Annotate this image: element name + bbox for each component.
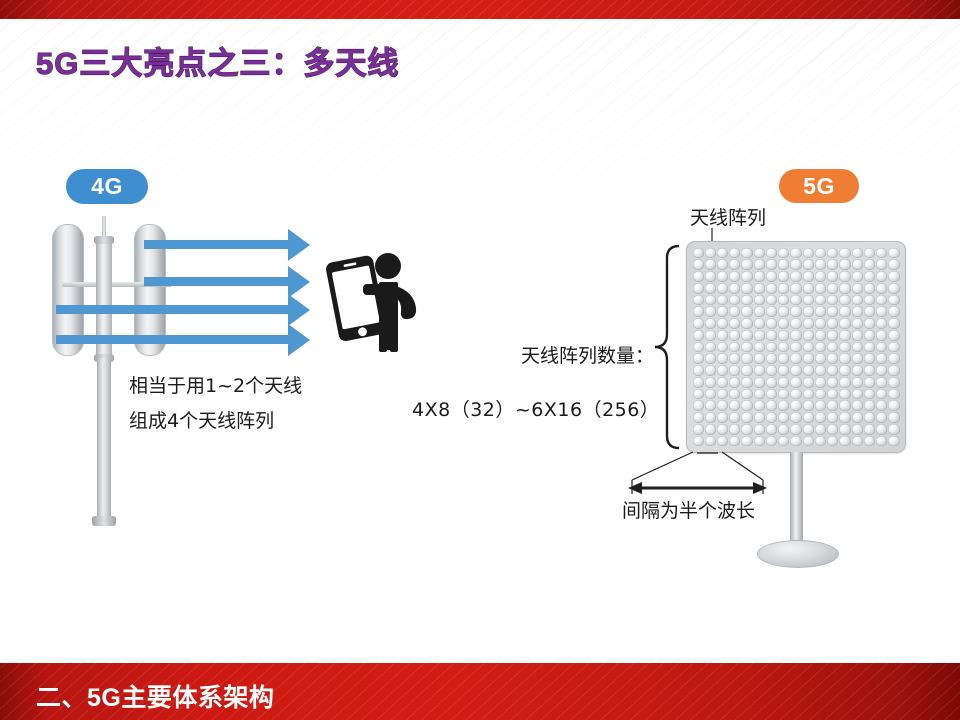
array-element (705, 330, 716, 341)
array-element (766, 295, 777, 306)
array-element (876, 412, 887, 423)
array-element (754, 365, 765, 376)
array-element (827, 295, 838, 306)
array-element (741, 248, 752, 259)
array-element (888, 318, 899, 329)
array-element (839, 424, 850, 435)
array-element (876, 248, 887, 259)
array-element (827, 412, 838, 423)
array-element (790, 412, 801, 423)
array-element (876, 283, 887, 294)
array-element (827, 365, 838, 376)
array-element (766, 283, 777, 294)
array-element (852, 295, 863, 306)
array-element (729, 271, 740, 282)
array-element (852, 365, 863, 376)
array-element (888, 295, 899, 306)
array-element (754, 424, 765, 435)
array-element (717, 365, 728, 376)
array-element (827, 259, 838, 270)
array-element (839, 353, 850, 364)
array-element (717, 283, 728, 294)
beam-arrow-3-shaft (56, 305, 292, 314)
array-element (693, 424, 704, 435)
array-element (790, 283, 801, 294)
array-element (741, 353, 752, 364)
array-element (705, 295, 716, 306)
array-element (729, 400, 740, 411)
array-element (839, 342, 850, 353)
label-array-formula: 4X8（32）~6X16（256） (412, 395, 659, 422)
array-element (778, 424, 789, 435)
array-element (729, 353, 740, 364)
array-element (705, 342, 716, 353)
array-element (778, 306, 789, 317)
array-element (839, 412, 850, 423)
array-element (778, 353, 789, 364)
array-element (790, 365, 801, 376)
array-element (864, 283, 875, 294)
array-element (705, 377, 716, 388)
array-element (790, 271, 801, 282)
array-element (888, 283, 899, 294)
array-element (839, 248, 850, 259)
array-element (815, 248, 826, 259)
array-element (839, 295, 850, 306)
label-spacing: 间隔为半个波长 (622, 496, 755, 523)
array-element (741, 259, 752, 270)
array-element (790, 353, 801, 364)
array-element (864, 295, 875, 306)
top-red-bar (0, 0, 960, 19)
array-element (803, 353, 814, 364)
spacing-callout-lines (610, 450, 830, 500)
array-element (754, 400, 765, 411)
array-element (839, 330, 850, 341)
array-element (693, 436, 704, 447)
array-element (705, 365, 716, 376)
tower-collar-upper (94, 236, 114, 244)
array-element (741, 283, 752, 294)
array-element (815, 271, 826, 282)
array-element (790, 306, 801, 317)
array-element (729, 295, 740, 306)
array-element (815, 365, 826, 376)
array-element (729, 259, 740, 270)
array-element (852, 400, 863, 411)
array-element (741, 400, 752, 411)
array-element (803, 306, 814, 317)
array-element (778, 271, 789, 282)
array-element (864, 353, 875, 364)
array-element (827, 342, 838, 353)
array-element (827, 377, 838, 388)
array-element (790, 436, 801, 447)
array-element (754, 389, 765, 400)
array-element (729, 306, 740, 317)
array-element (839, 400, 850, 411)
array-element (778, 295, 789, 306)
array-element (766, 424, 777, 435)
array-element (876, 330, 887, 341)
array-element (705, 318, 716, 329)
array-element (741, 412, 752, 423)
array-element (815, 389, 826, 400)
array-element (705, 306, 716, 317)
array-element (852, 436, 863, 447)
array-element (754, 353, 765, 364)
array-element (815, 283, 826, 294)
array-element (876, 424, 887, 435)
array-element (693, 342, 704, 353)
array-element (888, 306, 899, 317)
array-element (852, 330, 863, 341)
array-element (766, 318, 777, 329)
array-element (827, 248, 838, 259)
array-element (839, 283, 850, 294)
array-element (852, 248, 863, 259)
array-element (839, 259, 850, 270)
array-element (876, 353, 887, 364)
array-element (754, 412, 765, 423)
array-element (864, 330, 875, 341)
array-element (766, 342, 777, 353)
array-element (705, 400, 716, 411)
label-array-count: 天线阵列数量： (521, 341, 654, 368)
array-element (717, 353, 728, 364)
array-element (876, 436, 887, 447)
array-element (864, 400, 875, 411)
array-element (803, 365, 814, 376)
array-element (741, 389, 752, 400)
array-element (827, 271, 838, 282)
array-element (729, 377, 740, 388)
array-element (693, 283, 704, 294)
array-element (876, 306, 887, 317)
array-element (766, 353, 777, 364)
array-element (754, 330, 765, 341)
array-element (778, 318, 789, 329)
array-element (754, 318, 765, 329)
array-element (729, 318, 740, 329)
array-element (717, 330, 728, 341)
beam-arrow-1-shaft (144, 240, 292, 249)
array-element-grid (692, 247, 900, 447)
array-element (717, 259, 728, 270)
array-element (839, 389, 850, 400)
beam-arrow-2-shaft (144, 277, 292, 286)
array-element (778, 248, 789, 259)
array-element (815, 400, 826, 411)
array-element (741, 271, 752, 282)
array-element (790, 330, 801, 341)
array-element (852, 353, 863, 364)
array-element (717, 389, 728, 400)
array-element (803, 342, 814, 353)
array-element (876, 259, 887, 270)
array-element (888, 330, 899, 341)
array-element (754, 283, 765, 294)
array-element (705, 436, 716, 447)
array-element (852, 259, 863, 270)
5g-pole-base (757, 540, 839, 568)
array-element (754, 248, 765, 259)
array-element (815, 436, 826, 447)
array-element (888, 389, 899, 400)
array-element (827, 283, 838, 294)
caption-4g-line2: 组成4个天线阵列 (129, 406, 274, 433)
array-element (729, 424, 740, 435)
array-element (803, 389, 814, 400)
array-element (693, 389, 704, 400)
array-element (754, 436, 765, 447)
array-element (876, 389, 887, 400)
array-element (754, 271, 765, 282)
array-element (741, 365, 752, 376)
array-element (741, 330, 752, 341)
array-element (729, 412, 740, 423)
bottom-red-bar: 二、5G主要体系架构 (0, 663, 960, 720)
label-antenna-array: 天线阵列 (690, 203, 766, 230)
page-title: 5G三大亮点之三：多天线 (36, 38, 399, 83)
array-element (827, 353, 838, 364)
array-element (693, 259, 704, 270)
array-element (815, 295, 826, 306)
badge-5g: 5G (779, 169, 859, 203)
array-element (876, 342, 887, 353)
array-element (864, 318, 875, 329)
array-element (754, 306, 765, 317)
array-element (864, 259, 875, 270)
array-element (693, 330, 704, 341)
array-element (778, 365, 789, 376)
array-element (766, 412, 777, 423)
array-element (827, 306, 838, 317)
array-element (852, 342, 863, 353)
array-element (729, 283, 740, 294)
array-element (717, 306, 728, 317)
array-element (888, 377, 899, 388)
array-element (693, 377, 704, 388)
array-element (790, 400, 801, 411)
array-element (717, 342, 728, 353)
caption-4g-line1: 相当于用1~2个天线 (129, 371, 302, 398)
array-element (766, 436, 777, 447)
array-element (766, 389, 777, 400)
array-element (827, 389, 838, 400)
array-element (815, 306, 826, 317)
array-element (741, 436, 752, 447)
array-element (864, 412, 875, 423)
array-element (778, 342, 789, 353)
array-element (803, 283, 814, 294)
array-element (815, 412, 826, 423)
array-element (864, 436, 875, 447)
array-element (741, 377, 752, 388)
array-element (778, 377, 789, 388)
array-element (803, 400, 814, 411)
array-element (888, 436, 899, 447)
array-element (815, 424, 826, 435)
array-element (852, 271, 863, 282)
array-element (717, 248, 728, 259)
array-element (705, 353, 716, 364)
array-element (888, 365, 899, 376)
array-element (864, 424, 875, 435)
array-element (754, 259, 765, 270)
array-element (790, 248, 801, 259)
array-element (717, 436, 728, 447)
array-element (888, 412, 899, 423)
array-element (888, 342, 899, 353)
array-element (864, 271, 875, 282)
array-element (717, 400, 728, 411)
array-element (876, 318, 887, 329)
array-element (815, 342, 826, 353)
array-element (888, 400, 899, 411)
array-element (693, 306, 704, 317)
array-element (754, 342, 765, 353)
array-element (864, 377, 875, 388)
array-element (729, 365, 740, 376)
array-element (766, 365, 777, 376)
array-element (827, 400, 838, 411)
array-element (729, 248, 740, 259)
array-element (693, 412, 704, 423)
array-element (876, 295, 887, 306)
array-element (693, 400, 704, 411)
array-element (705, 424, 716, 435)
array-element (852, 424, 863, 435)
array-element (693, 353, 704, 364)
array-element (741, 295, 752, 306)
footer-section-title: 二、5G主要体系架构 (36, 678, 274, 714)
array-element (778, 436, 789, 447)
array-element (888, 248, 899, 259)
array-element (803, 318, 814, 329)
array-element (790, 377, 801, 388)
array-element (803, 259, 814, 270)
array-element (766, 306, 777, 317)
array-element (839, 318, 850, 329)
array-element (766, 259, 777, 270)
array-element (888, 271, 899, 282)
array-element (778, 283, 789, 294)
array-element (778, 389, 789, 400)
array-element (778, 259, 789, 270)
array-element (803, 271, 814, 282)
array-element (790, 389, 801, 400)
array-element (876, 377, 887, 388)
array-element (815, 377, 826, 388)
array-element (864, 306, 875, 317)
array-element (693, 318, 704, 329)
5g-antenna-array-panel (686, 241, 906, 453)
beam-arrow-4-shaft (56, 335, 292, 344)
array-element (790, 342, 801, 353)
array-element (717, 377, 728, 388)
array-element (839, 436, 850, 447)
array-element (693, 365, 704, 376)
slide-root: 5G三大亮点之三：多天线 4G (0, 0, 960, 720)
array-element (803, 436, 814, 447)
array-element (705, 248, 716, 259)
array-element (876, 365, 887, 376)
array-element (778, 412, 789, 423)
array-element (754, 295, 765, 306)
array-element (705, 412, 716, 423)
array-element (741, 306, 752, 317)
array-element (693, 248, 704, 259)
array-element (852, 377, 863, 388)
array-element (876, 271, 887, 282)
array-element (693, 295, 704, 306)
array-element (741, 342, 752, 353)
array-element (839, 377, 850, 388)
array-element (705, 271, 716, 282)
array-element (839, 306, 850, 317)
array-element (717, 271, 728, 282)
array-element (852, 306, 863, 317)
array-element (741, 318, 752, 329)
array-element (803, 424, 814, 435)
badge-4g: 4G (66, 169, 148, 204)
array-element (827, 330, 838, 341)
array-element (717, 318, 728, 329)
array-element (790, 295, 801, 306)
array-element (815, 330, 826, 341)
array-element (766, 377, 777, 388)
tower-mast-lower (97, 358, 111, 523)
array-element (705, 259, 716, 270)
array-element (766, 400, 777, 411)
array-element (852, 412, 863, 423)
array-element (717, 295, 728, 306)
array-element (729, 436, 740, 447)
array-element (815, 318, 826, 329)
array-element (888, 424, 899, 435)
array-panel-body (686, 241, 906, 453)
background-diagonal-texture-warm (560, 19, 960, 139)
array-element (852, 318, 863, 329)
array-element (790, 424, 801, 435)
array-element (864, 365, 875, 376)
array-element (827, 318, 838, 329)
beam-arrow-1-head (288, 227, 322, 263)
array-element (705, 283, 716, 294)
array-element (741, 424, 752, 435)
array-element (864, 342, 875, 353)
array-element (766, 271, 777, 282)
array-element (803, 412, 814, 423)
array-element (864, 389, 875, 400)
user-with-phone-icon (322, 246, 434, 354)
array-element (729, 389, 740, 400)
array-element (888, 353, 899, 364)
array-element (815, 353, 826, 364)
beam-arrow-4-head (288, 322, 322, 358)
top-bar-stripe-texture (0, 0, 960, 19)
array-element (803, 330, 814, 341)
array-element (754, 377, 765, 388)
array-element (729, 330, 740, 341)
array-element (790, 318, 801, 329)
array-element (729, 342, 740, 353)
array-element (717, 424, 728, 435)
array-element (803, 248, 814, 259)
array-element (693, 271, 704, 282)
array-element (815, 259, 826, 270)
